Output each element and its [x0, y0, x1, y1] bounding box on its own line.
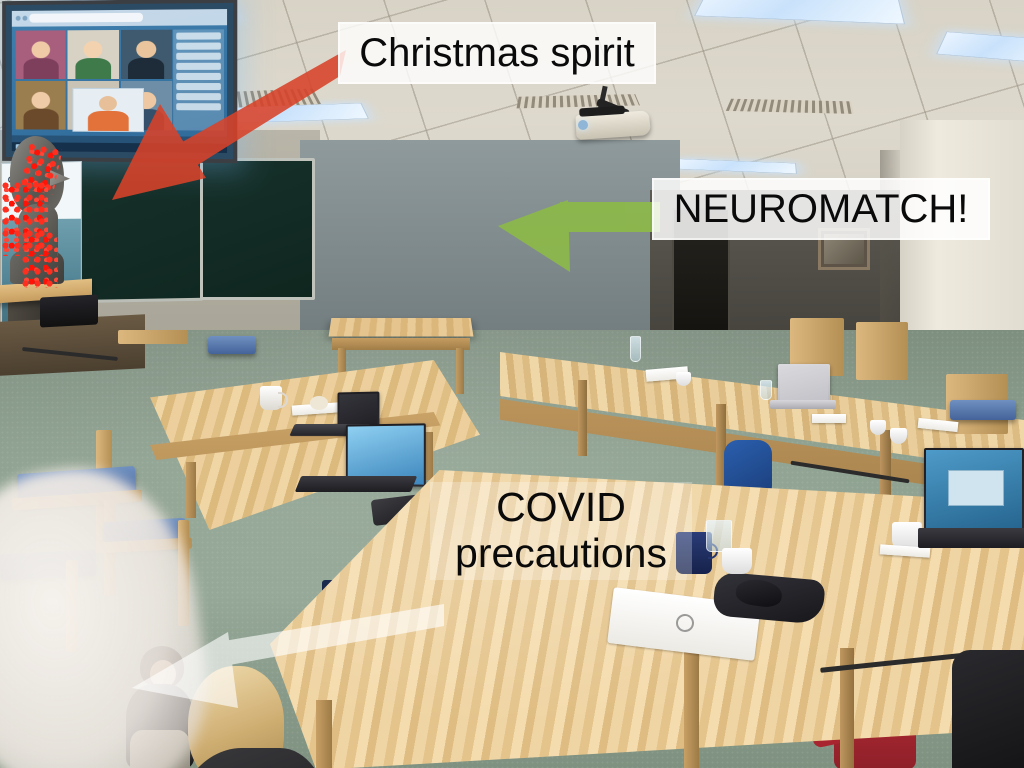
laptop-blonde-base[interactable] [295, 476, 417, 492]
browser-toolbar [12, 9, 227, 27]
water-bottle [630, 336, 641, 362]
laptop-right[interactable] [924, 448, 1024, 532]
annotated-photo-scene: Oe matiky v v i Institute of Computer Sc… [0, 0, 1024, 768]
chair-seat [208, 336, 256, 354]
drinking-glass [760, 380, 772, 400]
chair-back [118, 330, 188, 344]
projector-lens-icon [578, 120, 588, 130]
rear-table-edge [332, 338, 470, 350]
participant-tile [16, 81, 66, 130]
table-leg [456, 348, 464, 394]
white-cup [722, 548, 752, 574]
white-arrow [132, 604, 444, 716]
table-leg [684, 640, 699, 768]
rear-table [329, 318, 474, 336]
chair-back [856, 322, 908, 380]
green-arrow [498, 200, 660, 290]
laptop-silver-base[interactable] [770, 400, 836, 409]
red-arrow [96, 50, 348, 202]
chair-seat [950, 400, 1016, 420]
rear-monitor [40, 294, 98, 327]
chair-dark [952, 650, 1024, 768]
participant-tile [16, 30, 66, 79]
laptop-silver[interactable] [778, 364, 830, 402]
chat-message [176, 32, 221, 39]
laptop-right-base[interactable] [918, 528, 1024, 548]
label-neuromatch: NEUROMATCH! [652, 178, 990, 240]
label-covid-precautions: COVID precautions [430, 482, 692, 580]
mug-white-rear [260, 386, 282, 410]
tinsel-decoration [22, 232, 58, 288]
url-bar [29, 13, 143, 23]
table-leg [186, 462, 196, 518]
snack [310, 396, 328, 410]
table-leg [578, 380, 587, 456]
label-christmas-spirit: Christmas spirit [338, 22, 656, 84]
chat-message [176, 43, 221, 50]
notebook [812, 414, 846, 423]
